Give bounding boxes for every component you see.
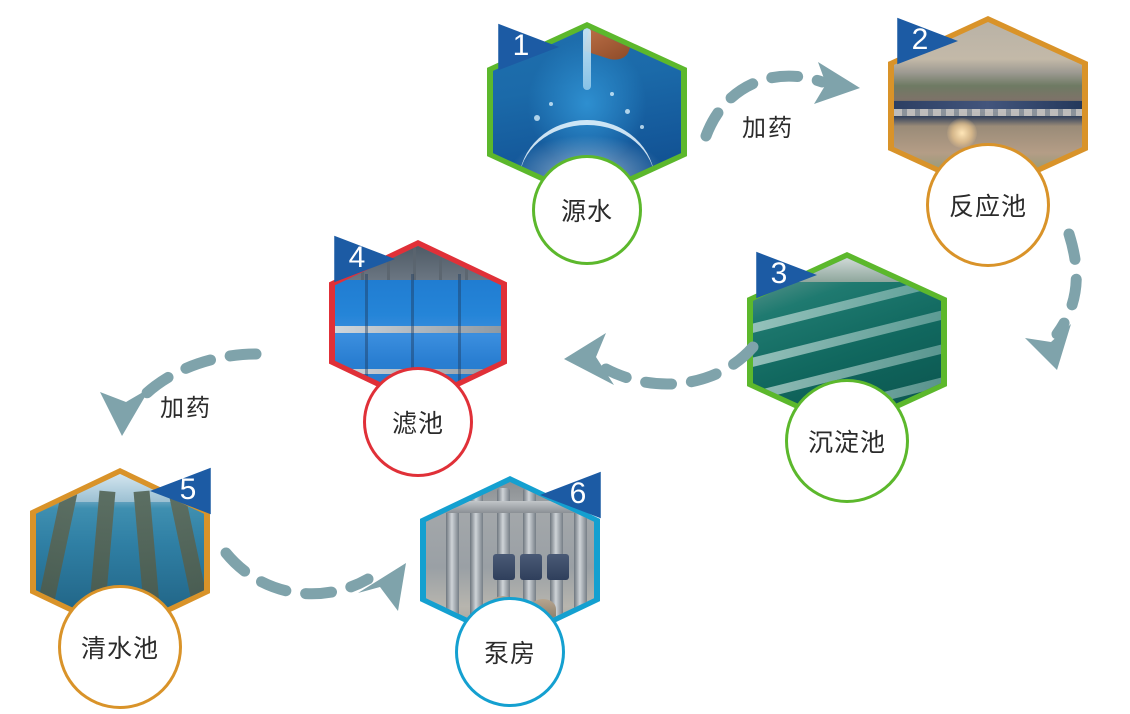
process-flow-diagram: 加药 加药 bbox=[0, 0, 1130, 714]
step-number: 2 bbox=[898, 12, 942, 70]
process-step-pump-house[interactable]: 6 泵房 bbox=[420, 476, 620, 686]
step-badge-1: 1 bbox=[497, 18, 559, 76]
step-caption-source-water: 源水 bbox=[535, 158, 639, 262]
step-badge-5: 5 bbox=[150, 462, 212, 520]
arrow-clearwater-to-pumphouse bbox=[218, 535, 418, 615]
process-step-sedimentation-tank[interactable]: 3 沉淀池 bbox=[747, 252, 947, 462]
flow-label-dosing-1: 加药 bbox=[742, 108, 794, 143]
process-step-reaction-tank[interactable]: 2 反应池 bbox=[888, 16, 1088, 226]
step-label: 清水池 bbox=[81, 629, 159, 665]
step-badge-2: 2 bbox=[896, 12, 958, 70]
step-caption-clear-water-tank: 清水池 bbox=[61, 588, 179, 706]
step-label: 反应池 bbox=[949, 187, 1027, 223]
step-number: 5 bbox=[166, 462, 210, 520]
step-number: 4 bbox=[335, 230, 379, 288]
step-number: 3 bbox=[757, 246, 801, 304]
step-caption-pump-house: 泵房 bbox=[458, 600, 562, 704]
step-number: 1 bbox=[499, 18, 543, 76]
process-step-source-water[interactable]: 1 源水 bbox=[487, 22, 687, 232]
step-badge-3: 3 bbox=[755, 246, 817, 304]
step-label: 滤池 bbox=[392, 404, 444, 440]
step-label: 沉淀池 bbox=[808, 423, 886, 459]
step-caption-sedimentation-tank: 沉淀池 bbox=[788, 382, 906, 500]
step-caption-reaction-tank: 反应池 bbox=[929, 146, 1047, 264]
arrow-sedimentation-to-filter bbox=[548, 325, 763, 405]
process-step-clear-water-tank[interactable]: 5 清水池 bbox=[30, 468, 230, 678]
step-label: 源水 bbox=[561, 192, 613, 228]
step-badge-6: 6 bbox=[540, 466, 602, 524]
flow-label-dosing-2: 加药 bbox=[160, 388, 212, 423]
step-badge-4: 4 bbox=[333, 230, 395, 288]
step-number: 6 bbox=[556, 466, 600, 524]
step-label: 泵房 bbox=[484, 634, 536, 670]
step-caption-filter-tank: 滤池 bbox=[366, 370, 470, 474]
process-step-filter-tank[interactable]: 4 滤池 bbox=[329, 240, 529, 450]
